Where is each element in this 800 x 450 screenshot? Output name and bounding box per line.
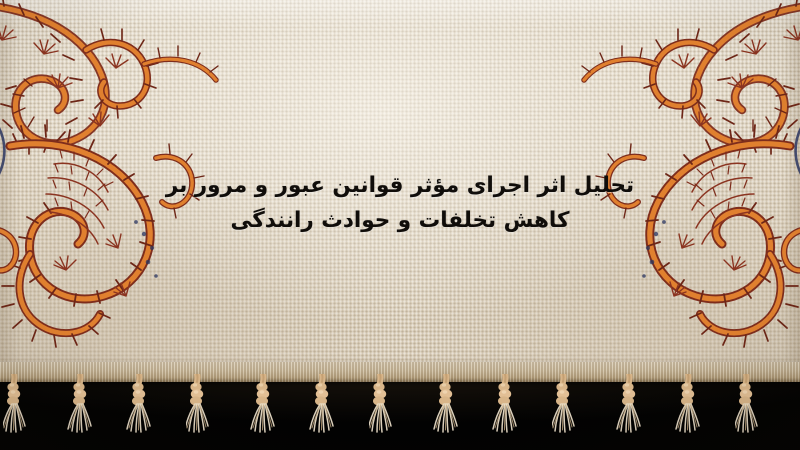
tassel: [430, 374, 460, 448]
tassel: [613, 374, 643, 448]
tassel: [125, 374, 155, 448]
linen-fabric-background: [0, 0, 800, 378]
tassel: [186, 374, 216, 448]
tassel: [491, 374, 521, 448]
tassel: [64, 374, 94, 448]
tassel: [735, 374, 765, 448]
tassel: [3, 374, 33, 448]
tassel: [247, 374, 277, 448]
tassel: [552, 374, 582, 448]
tassel: [674, 374, 704, 448]
tassel: [308, 374, 338, 448]
tassel: [369, 374, 399, 448]
pateh-banner-image: تحلیل اثر اجرای مؤثر قوانین عبور و مرور …: [0, 0, 800, 450]
